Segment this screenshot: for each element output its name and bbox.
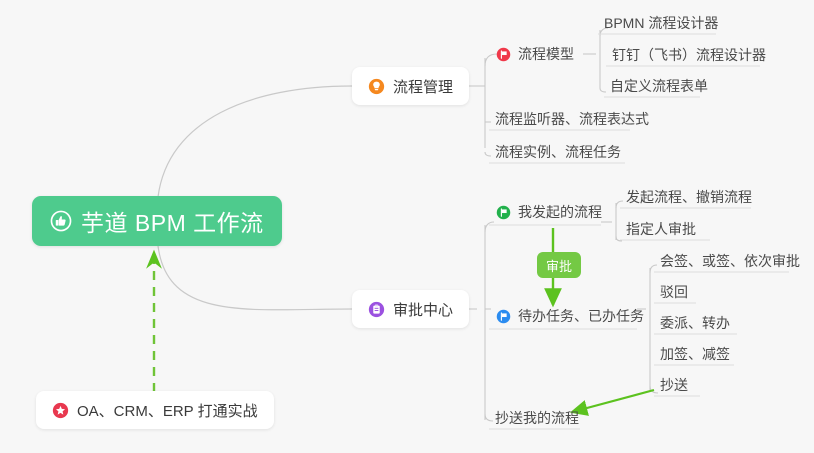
- node-my-initiated[interactable]: 我发起的流程: [490, 200, 608, 228]
- mindmap-canvas: 芋道 BPM 工作流 流程管理 流程模型 BPMN 流程设计器 钉钉（飞书）流程…: [0, 0, 814, 453]
- node-label-cc-to-me: 抄送我的流程: [495, 408, 579, 428]
- branch-node-process-management[interactable]: 流程管理: [352, 67, 469, 105]
- node-delegate-transfer[interactable]: 委派、转办: [654, 311, 736, 339]
- node-countersign[interactable]: 会签、或签、依次审批: [654, 249, 806, 277]
- root-label: 芋道 BPM 工作流: [81, 204, 264, 238]
- node-label-countersign: 会签、或签、依次审批: [660, 251, 800, 271]
- node-label-add-remove-sign: 加签、减签: [660, 344, 730, 364]
- approval-tag[interactable]: 审批: [537, 252, 581, 278]
- node-assigned-approval[interactable]: 指定人审批: [620, 217, 702, 245]
- flag-green-icon: [496, 205, 511, 220]
- lightbulb-icon: [368, 78, 385, 95]
- node-listener-expression[interactable]: 流程监听器、流程表达式: [489, 107, 655, 135]
- flag-red-icon: [496, 47, 511, 62]
- node-label-listener-expression: 流程监听器、流程表达式: [495, 109, 649, 129]
- root-node[interactable]: 芋道 BPM 工作流: [32, 196, 282, 246]
- star-red-icon: [52, 402, 69, 419]
- node-label-delegate-transfer: 委派、转办: [660, 313, 730, 333]
- node-instance-task[interactable]: 流程实例、流程任务: [489, 140, 627, 168]
- node-label-process-model: 流程模型: [518, 44, 574, 64]
- node-label-reject: 驳回: [660, 282, 688, 302]
- node-cc-to-me[interactable]: 抄送我的流程: [489, 406, 585, 434]
- node-process-model[interactable]: 流程模型: [490, 42, 580, 70]
- node-reject[interactable]: 驳回: [654, 280, 694, 308]
- node-label-start-cancel: 发起流程、撤销流程: [626, 187, 752, 207]
- branch-label-approval-center: 审批中心: [393, 299, 453, 320]
- node-custom-process-form[interactable]: 自定义流程表单: [604, 74, 714, 102]
- node-label-assigned-approval: 指定人审批: [626, 219, 696, 239]
- branch-label-process-management: 流程管理: [393, 76, 453, 97]
- node-label-my-initiated: 我发起的流程: [518, 202, 602, 222]
- thumbs-up-icon: [50, 210, 72, 232]
- node-label-instance-task: 流程实例、流程任务: [495, 142, 621, 162]
- approval-tag-label: 审批: [546, 256, 572, 275]
- node-bpmn-designer[interactable]: BPMN 流程设计器: [598, 11, 724, 39]
- node-todo-done[interactable]: 待办任务、已办任务: [490, 304, 650, 332]
- bottom-node-label: OA、CRM、ERP 打通实战: [77, 400, 258, 421]
- bottom-node-integration[interactable]: OA、CRM、ERP 打通实战: [36, 391, 274, 429]
- node-start-cancel[interactable]: 发起流程、撤销流程: [620, 185, 758, 213]
- node-label-custom-process-form: 自定义流程表单: [610, 76, 708, 96]
- flag-blue-icon: [496, 309, 511, 324]
- branch-node-approval-center[interactable]: 审批中心: [352, 290, 469, 328]
- node-label-bpmn-designer: BPMN 流程设计器: [604, 13, 718, 33]
- node-add-remove-sign[interactable]: 加签、减签: [654, 342, 736, 370]
- node-label-cc: 抄送: [660, 375, 688, 395]
- node-cc[interactable]: 抄送: [654, 373, 694, 401]
- clipboard-purple-icon: [368, 301, 385, 318]
- node-label-todo-done: 待办任务、已办任务: [518, 306, 644, 326]
- node-label-dingtalk-feishu-designer: 钉钉（飞书）流程设计器: [612, 45, 766, 65]
- node-dingtalk-feishu-designer[interactable]: 钉钉（飞书）流程设计器: [606, 43, 772, 71]
